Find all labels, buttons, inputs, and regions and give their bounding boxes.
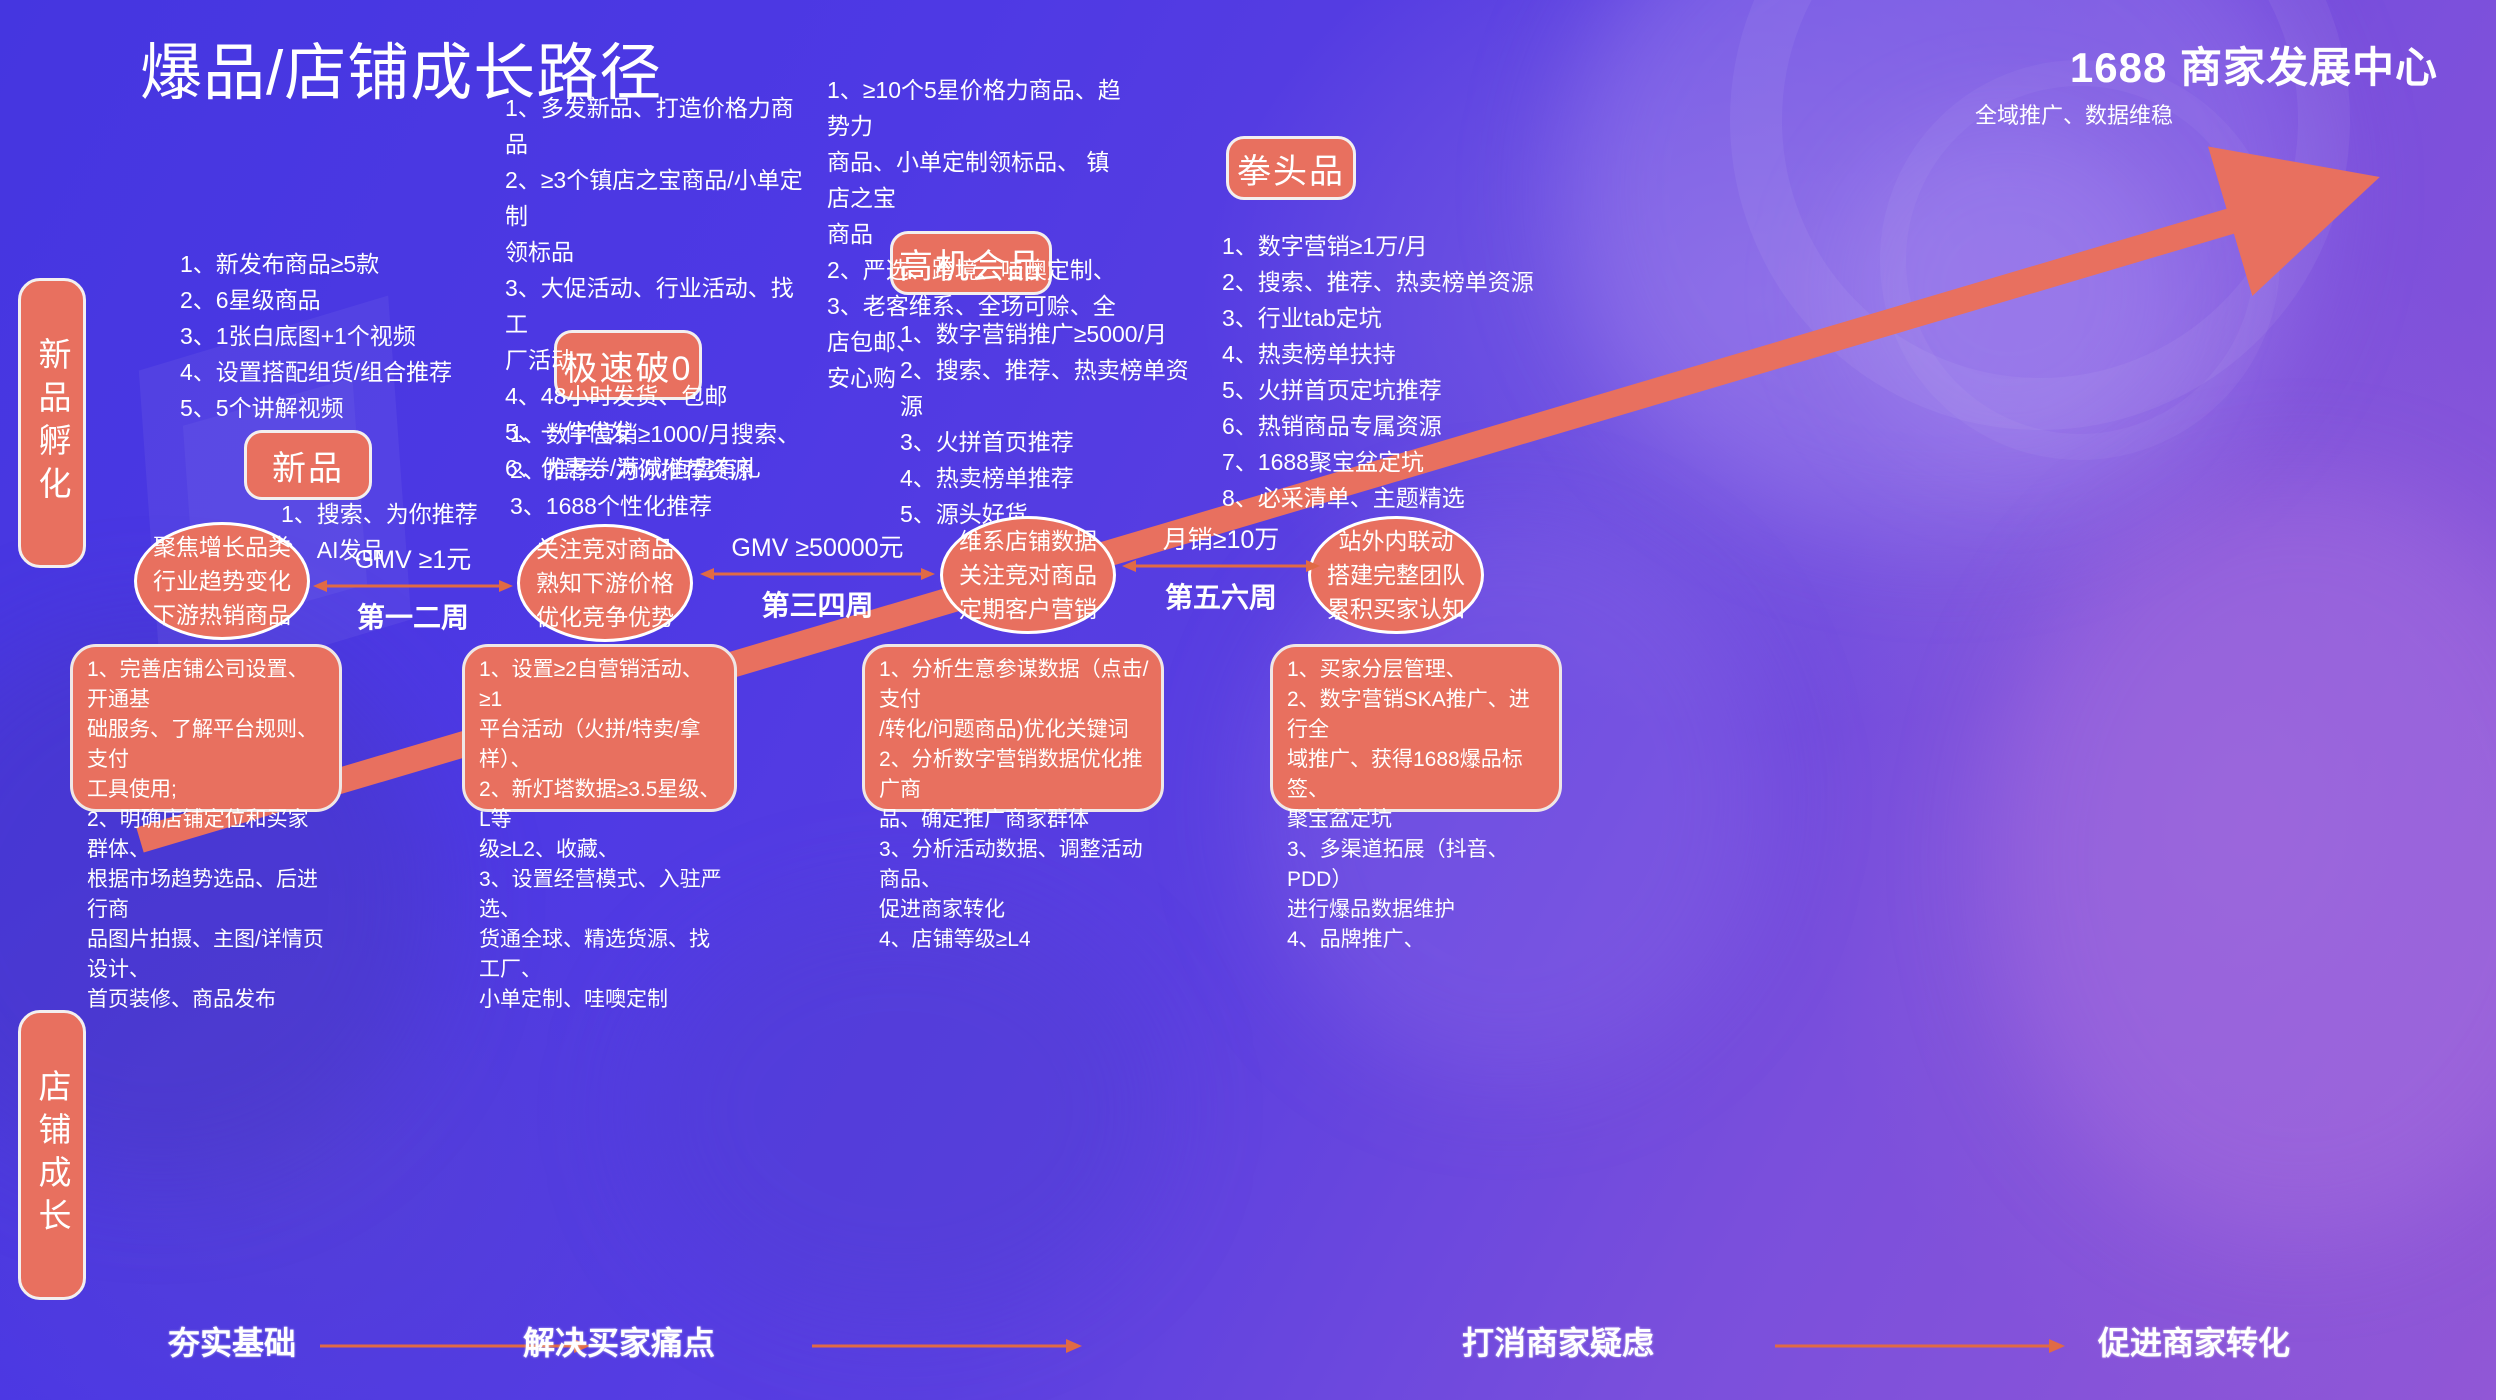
task-card-4[interactable]: 1、买家分层管理、 2、数字营销SKA推广、进行全 域推广、获得1688爆品标签… [1270,644,1562,812]
bottom-stage-3: 打消商家疑虑 [1462,1318,1654,1364]
stage-arrow-icon-2 [812,1336,1082,1356]
connector-week-label: 第三四周 [700,584,935,624]
milestone-ellipse-3[interactable]: 维系店铺数据 关注竞对商品 定期客户营销 [940,516,1116,634]
milestone-ellipse-2[interactable]: 关注竞对商品 熟知下游价格 优化竞争优势 [517,524,693,642]
task-card-2[interactable]: 1、设置≥2自营销活动、 ≥1 平台活动（火拼/特卖/拿样）、 2、新灯塔数据≥… [462,644,737,812]
task-card-3[interactable]: 1、分析生意参谋数据（点击/支付 /转化/问题商品)优化关键词 2、分析数字营销… [862,644,1164,812]
connector-metric: GMV ≥1元 [313,540,513,576]
spec-list-new-product-incubation: 1、新发布商品≥5款 2、6星级商品 3、1张白底图+1个视频 4、设置搭配组货… [180,246,510,426]
background-blob [1840,120,2180,460]
milestone-pill-new-product[interactable]: 新品 [244,430,372,500]
ellipse-line: 下游热销商品 [153,598,291,632]
spec-list-high-opportunity: 1、数字营销推广≥5000/月 2、搜索、推荐、热卖榜单资源 3、火拼首页推荐 … [900,316,1200,532]
brand-subtitle: 全域推广、数据维稳 [1975,98,2173,130]
ellipse-line: 维系店铺数据 [959,524,1097,558]
connector-metric: GMV ≥50000元 [700,528,935,564]
ellipse-line: 搭建完整团队 [1327,558,1465,592]
bottom-stage-1: 夯实基础 [168,1318,296,1364]
ellipse-line: 关注竞对商品 [536,532,674,566]
infographic-canvas: 爆品/店铺成长路径 1688 商家发展中心 全域推广、数据维稳 新品孵化 店铺成… [0,0,2496,1400]
bottom-stage-2: 解决买家痛点 [523,1318,715,1364]
double-arrow-icon [1122,556,1320,576]
background-blob [640,900,1160,1320]
growth-trend-arrow-icon [0,0,2496,1400]
connector-week-1-2: GMV ≥1元 第一二周 [313,540,513,636]
stage-badge-new-product-incubation[interactable]: 新品孵化 [18,278,86,568]
ellipse-line: 站外内联动 [1339,524,1454,558]
ellipse-line: 熟知下游价格 [536,566,674,600]
ellipse-line: 优化竞争优势 [536,600,674,634]
milestone-ellipse-1[interactable]: 聚焦增长品类 行业趋势变化 下游热销商品 [134,522,310,640]
double-arrow-icon [313,576,513,596]
milestone-ellipse-4[interactable]: 站外内联动 搭建完整团队 累积买家认知 [1308,516,1484,634]
spec-list-mid-column: 1、多发新品、打造价格力商品 2、≥3个镇店之宝商品/小单定制 领标品 3、大促… [505,90,805,486]
ellipse-line: 累积买家认知 [1327,592,1465,626]
connector-week-3-4: GMV ≥50000元 第三四周 [700,528,935,624]
bottom-stage-4: 促进商家转化 [2098,1318,2290,1364]
brand-title: 1688 商家发展中心 [2070,34,2438,95]
ellipse-line: 关注竞对商品 [959,558,1097,592]
ellipse-line: 行业趋势变化 [153,564,291,598]
connector-metric: 月销≥10万 [1122,520,1320,556]
background-blob [1990,480,2496,1240]
connector-week-label: 第一二周 [313,596,513,636]
stage-badge-shop-growth[interactable]: 店铺成长 [18,1010,86,1300]
milestone-pill-fist-product[interactable]: 拳头品 [1226,136,1356,200]
ellipse-line: 定期客户营销 [959,592,1097,626]
ellipse-line: 聚焦增长品类 [153,530,291,564]
connector-week-label: 第五六周 [1122,576,1320,616]
spec-list-fist-product: 1、数字营销≥1万/月 2、搜索、推荐、热卖榜单资源 3、行业tab定坑 4、热… [1222,228,1542,516]
connector-week-5-6: 月销≥10万 第五六周 [1122,520,1320,616]
task-card-1[interactable]: 1、完善店铺公司设置、开通基 础服务、了解平台规则、支付 工具使用; 2、明确店… [70,644,342,812]
stage-arrow-icon-3 [1775,1336,2065,1356]
double-arrow-icon [700,564,935,584]
